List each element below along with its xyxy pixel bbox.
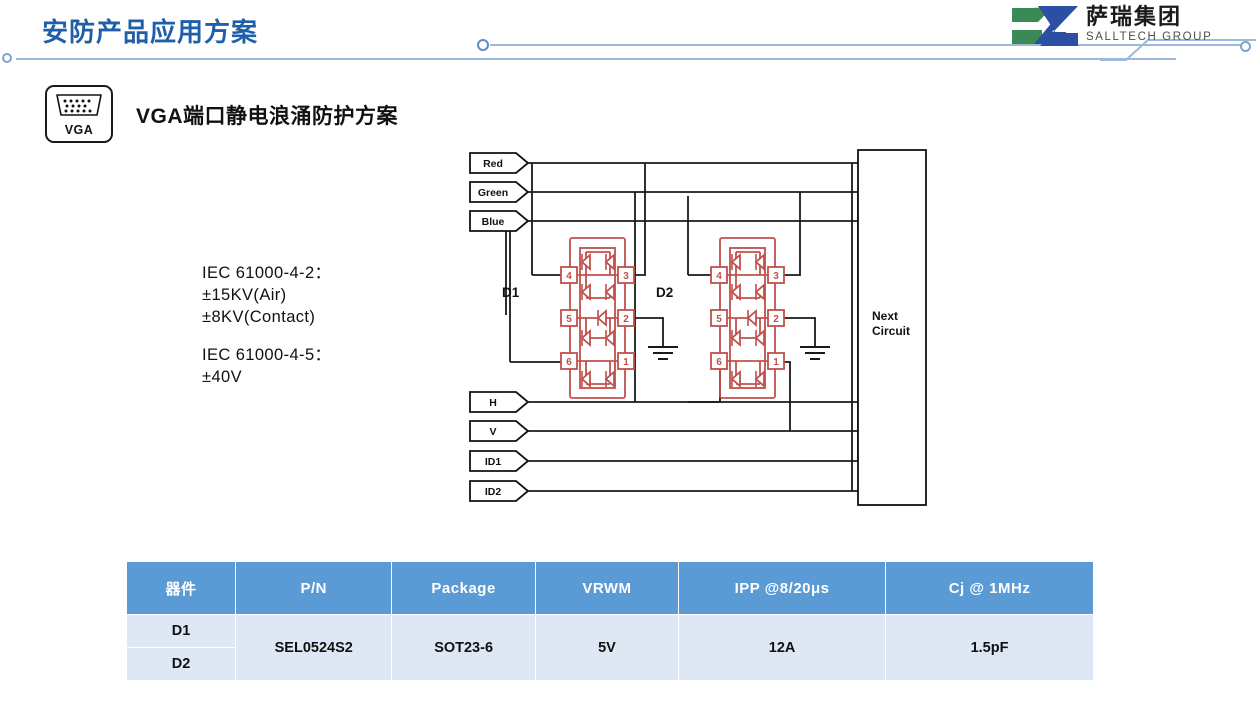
svg-text:Red: Red: [483, 158, 503, 170]
cell-ipp: 12A: [679, 615, 886, 681]
header-dot-upper-icon: [477, 39, 489, 51]
spec-line-iec-4-5: IEC 61000-4-5：: [202, 344, 331, 366]
spec-line-surge: ±40V: [202, 366, 331, 388]
logo-english-name: SALLTECH GROUP: [1086, 30, 1242, 44]
vga-badge-label: VGA: [47, 123, 111, 137]
signal-tag-id1: ID1: [470, 451, 528, 471]
svg-text:4: 4: [716, 271, 722, 282]
page-title: 安防产品应用方案: [42, 12, 258, 49]
device-label-d2: D2: [656, 285, 673, 300]
signal-tag-red: Red: [470, 153, 528, 173]
device-spec-table: 器件 P/N Package VRWM IPP @8/20μs Cj @ 1MH…: [126, 561, 1094, 681]
page-header: 安防产品应用方案 萨瑞集团 SALLTECH GROUP: [0, 0, 1256, 62]
col-header-cj: Cj @ 1MHz: [886, 562, 1094, 615]
spec-spacer: [202, 328, 331, 344]
cell-vrwm: 5V: [535, 615, 678, 681]
svg-text:1: 1: [773, 357, 779, 368]
spec-line-air: ±15KV(Air): [202, 284, 331, 306]
svg-text:1: 1: [623, 357, 629, 368]
next-circuit-label-line2: Circuit: [872, 324, 910, 338]
header-rule-left: [16, 58, 1176, 60]
table-header-row: 器件 P/N Package VRWM IPP @8/20μs Cj @ 1MH…: [127, 562, 1094, 615]
vga-connector-badge: VGA: [45, 85, 113, 143]
cell-device-d2: D2: [127, 648, 236, 681]
salltech-logo-icon: [1012, 6, 1080, 46]
signal-tag-id2: ID2: [470, 481, 528, 501]
svg-text:3: 3: [773, 271, 779, 282]
col-header-pn: P/N: [236, 562, 392, 615]
svg-text:Blue: Blue: [482, 216, 505, 228]
cell-package: SOT23-6: [392, 615, 535, 681]
spec-line-contact: ±8KV(Contact): [202, 306, 331, 328]
signal-tag-green: Green: [470, 182, 528, 202]
svg-text:ID1: ID1: [485, 456, 502, 468]
next-circuit-block: Next Circuit: [858, 150, 926, 505]
svg-text:6: 6: [566, 357, 572, 368]
signal-tag-v: V: [470, 421, 528, 441]
svg-text:ID2: ID2: [485, 486, 502, 498]
cell-pn: SEL0524S2: [236, 615, 392, 681]
cell-device-d1: D1: [127, 615, 236, 648]
circuit-wires: [506, 163, 858, 491]
logo-text-block: 萨瑞集团 SALLTECH GROUP: [1086, 4, 1242, 44]
svg-text:6: 6: [716, 357, 722, 368]
svg-text:4: 4: [566, 271, 572, 282]
svg-text:3: 3: [623, 271, 629, 282]
svg-text:5: 5: [716, 314, 722, 325]
cell-cj: 1.5pF: [886, 615, 1094, 681]
header-dot-left-icon: [2, 53, 12, 63]
signal-tag-h: H: [470, 392, 528, 412]
svg-text:2: 2: [773, 314, 779, 325]
table-row: D1 SEL0524S2 SOT23-6 5V 12A 1.5pF: [127, 615, 1094, 648]
col-header-ipp: IPP @8/20μs: [679, 562, 886, 615]
brand-logo: 萨瑞集团 SALLTECH GROUP: [1012, 4, 1244, 48]
svg-text:5: 5: [566, 314, 572, 325]
col-header-package: Package: [392, 562, 535, 615]
svg-text:Green: Green: [478, 187, 508, 199]
col-header-vrwm: VRWM: [535, 562, 678, 615]
device-label-d1: D1: [502, 285, 520, 300]
svg-text:2: 2: [623, 314, 629, 325]
spec-text-block: IEC 61000-4-2： ±15KV(Air) ±8KV(Contact) …: [202, 262, 331, 388]
signal-tag-blue: Blue: [470, 211, 528, 231]
logo-chinese-name: 萨瑞集团: [1086, 4, 1242, 30]
vga-connector-icon: [47, 89, 111, 125]
svg-text:V: V: [489, 426, 496, 438]
section-title: VGA端口静电浪涌防护方案: [136, 100, 398, 130]
next-circuit-label-line1: Next: [872, 309, 898, 323]
signal-tags: Red Green Blue H V ID1 ID2: [470, 153, 528, 501]
col-header-device: 器件: [127, 562, 236, 615]
svg-text:H: H: [489, 397, 497, 409]
circuit-diagram: Red Green Blue H V ID1 ID2: [460, 140, 940, 515]
spec-line-iec-4-2: IEC 61000-4-2：: [202, 262, 331, 284]
